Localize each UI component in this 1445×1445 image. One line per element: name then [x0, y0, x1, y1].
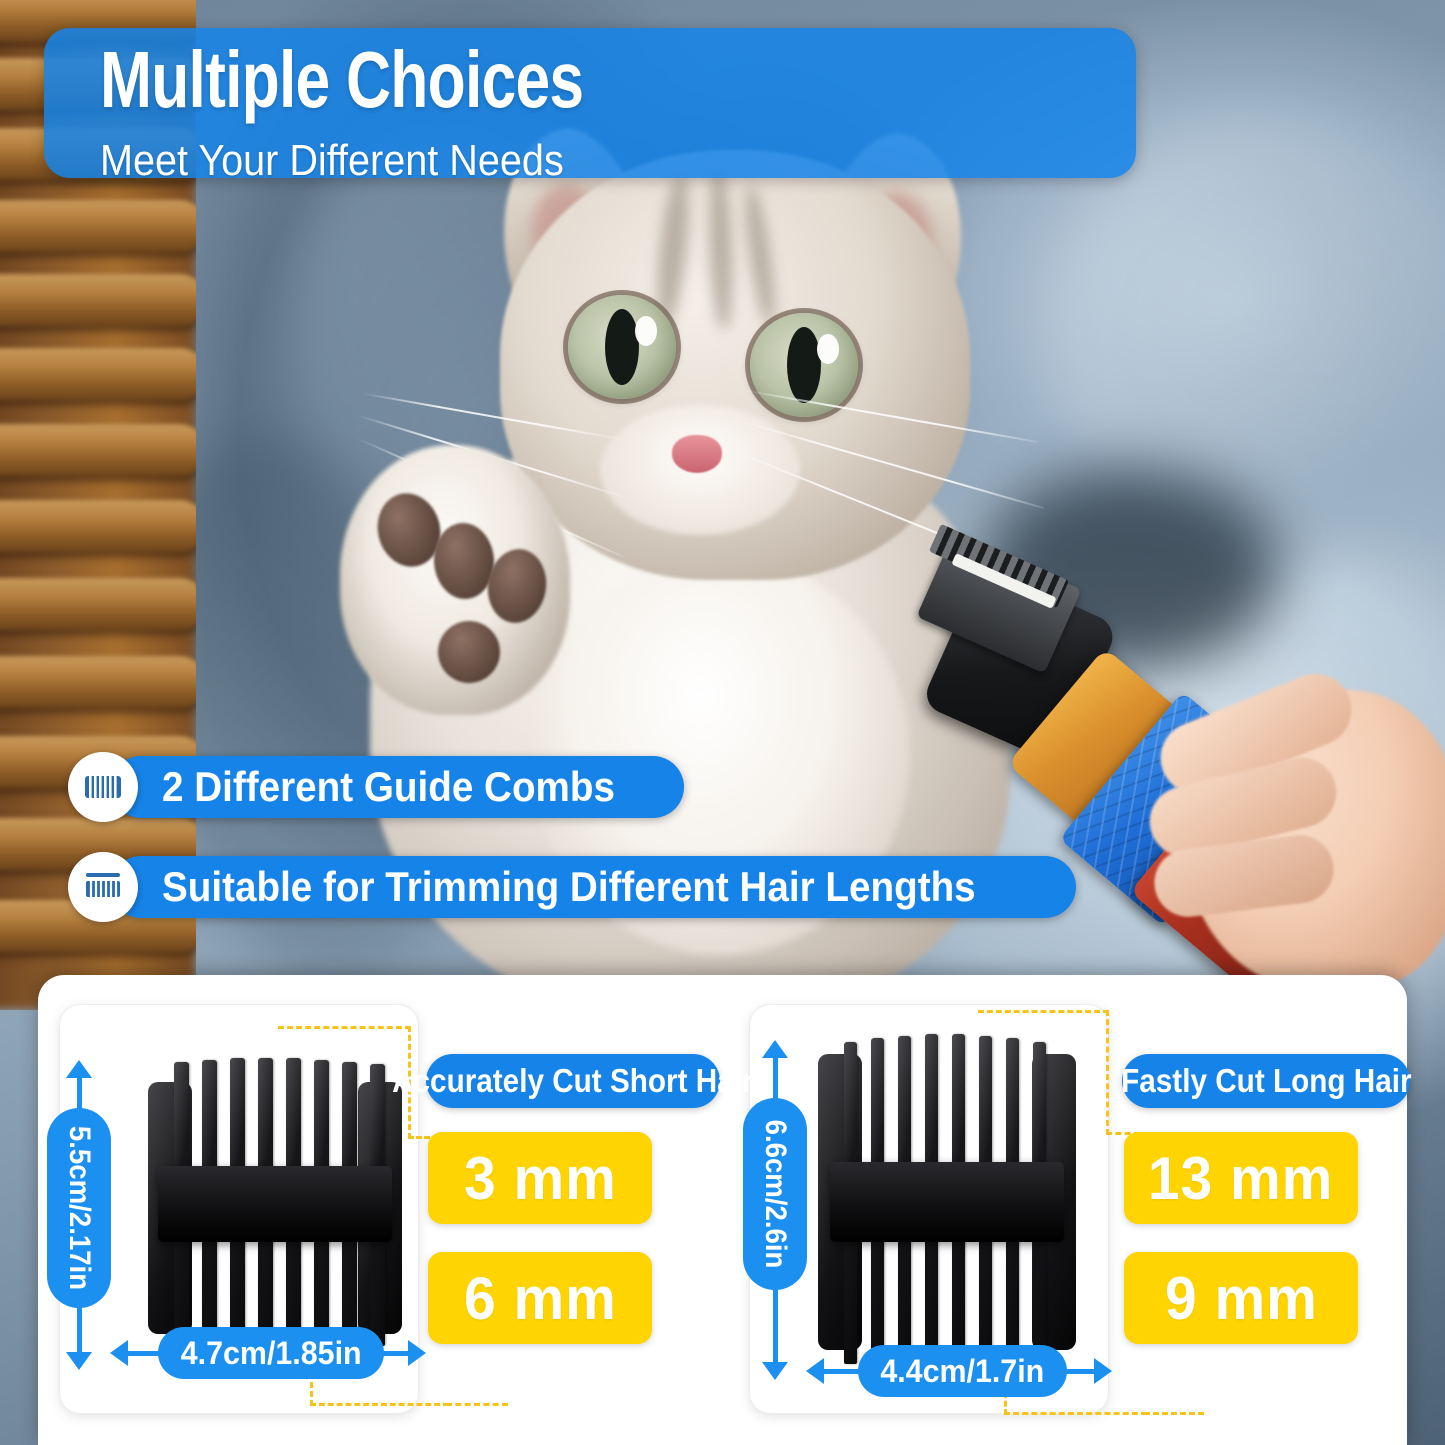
dashed-connector	[978, 1010, 1109, 1135]
kitten-pupil	[787, 327, 821, 403]
long-hair-title-pill: Fastly Cut Long Hair	[1122, 1054, 1410, 1108]
basket-coil	[0, 578, 196, 630]
kitten-pupil	[605, 309, 639, 385]
arrow-head-down-icon	[66, 1352, 92, 1370]
clipper-comb-icon	[68, 752, 138, 822]
basket-coil	[0, 200, 196, 252]
dimension-value: 4.7cm/1.85in	[181, 1335, 362, 1372]
kitten-eye-glint	[817, 334, 839, 364]
dimension-label: 4.4cm/1.7in	[858, 1345, 1067, 1397]
hand	[1150, 650, 1445, 995]
short-comb-height-dimension: 5.5cm/2.17in	[66, 1060, 92, 1370]
dimension-label: 5.5cm/2.17in	[47, 1108, 111, 1308]
short-comb-size-2: 6 mm	[428, 1252, 652, 1344]
short-hair-title: Accurately Cut Short Hair	[392, 1062, 753, 1100]
feature-pill: Suitable for Trimming Different Hair Len…	[110, 856, 1076, 918]
dimension-value: 5.5cm/2.17in	[62, 1126, 96, 1290]
feature-label: Suitable for Trimming Different Hair Len…	[162, 863, 976, 911]
feature-label: 2 Different Guide Combs	[162, 763, 615, 811]
feature-badge-guide-combs: 2 Different Guide Combs	[68, 752, 684, 822]
dimension-value: 6.6cm/2.6in	[758, 1120, 792, 1269]
feature-badge-hair-lengths: Suitable for Trimming Different Hair Len…	[68, 852, 1076, 922]
basket-coil	[0, 274, 196, 326]
dimension-label: 6.6cm/2.6in	[743, 1098, 807, 1290]
kitten-eye-left	[568, 295, 676, 399]
arrow-head-right-icon	[408, 1340, 426, 1366]
dimension-value: 4.4cm/1.7in	[880, 1353, 1044, 1390]
arrow-head-right-icon	[1094, 1358, 1112, 1384]
header-banner: Multiple Choices Meet Your Different Nee…	[44, 28, 1136, 178]
kitten-paw	[330, 445, 590, 735]
dimension-label: 4.7cm/1.85in	[158, 1327, 384, 1379]
long-comb-size-2: 9 mm	[1124, 1252, 1358, 1344]
page-title: Multiple Choices	[100, 34, 583, 126]
kitten-eye-glint	[635, 316, 657, 346]
comb-body	[158, 1166, 392, 1242]
long-hair-title: Fastly Cut Long Hair	[1121, 1062, 1411, 1100]
basket-coil	[0, 424, 196, 476]
size-value: 13 mm	[1148, 1144, 1333, 1213]
dashed-connector	[278, 1026, 411, 1139]
dashed-connector	[1144, 1412, 1204, 1415]
page-subtitle: Meet Your Different Needs	[100, 136, 564, 186]
basket-coil	[0, 348, 196, 400]
comb-body	[830, 1162, 1064, 1242]
size-value: 6 mm	[464, 1264, 617, 1333]
paw-pad	[438, 621, 500, 683]
long-comb-height-dimension: 6.6cm/2.6in	[762, 1040, 788, 1380]
arrow-head-down-icon	[762, 1362, 788, 1380]
long-comb-width-dimension: 4.4cm/1.7in	[806, 1358, 1112, 1384]
size-value: 9 mm	[1165, 1264, 1318, 1333]
short-hair-title-pill: Accurately Cut Short Hair	[426, 1054, 720, 1108]
feature-pill: 2 Different Guide Combs	[110, 756, 684, 818]
basket-coil	[0, 500, 196, 552]
long-comb-size-1: 13 mm	[1124, 1132, 1358, 1224]
kitten-nose	[672, 435, 722, 473]
basket-coil	[0, 656, 196, 708]
product-infographic: Multiple Choices Meet Your Different Nee…	[0, 0, 1445, 1445]
dashed-connector	[446, 1403, 508, 1406]
size-value: 3 mm	[464, 1144, 617, 1213]
hair-brush-icon	[68, 852, 138, 922]
short-comb-size-1: 3 mm	[428, 1132, 652, 1224]
short-comb-width-dimension: 4.7cm/1.85in	[110, 1340, 426, 1366]
